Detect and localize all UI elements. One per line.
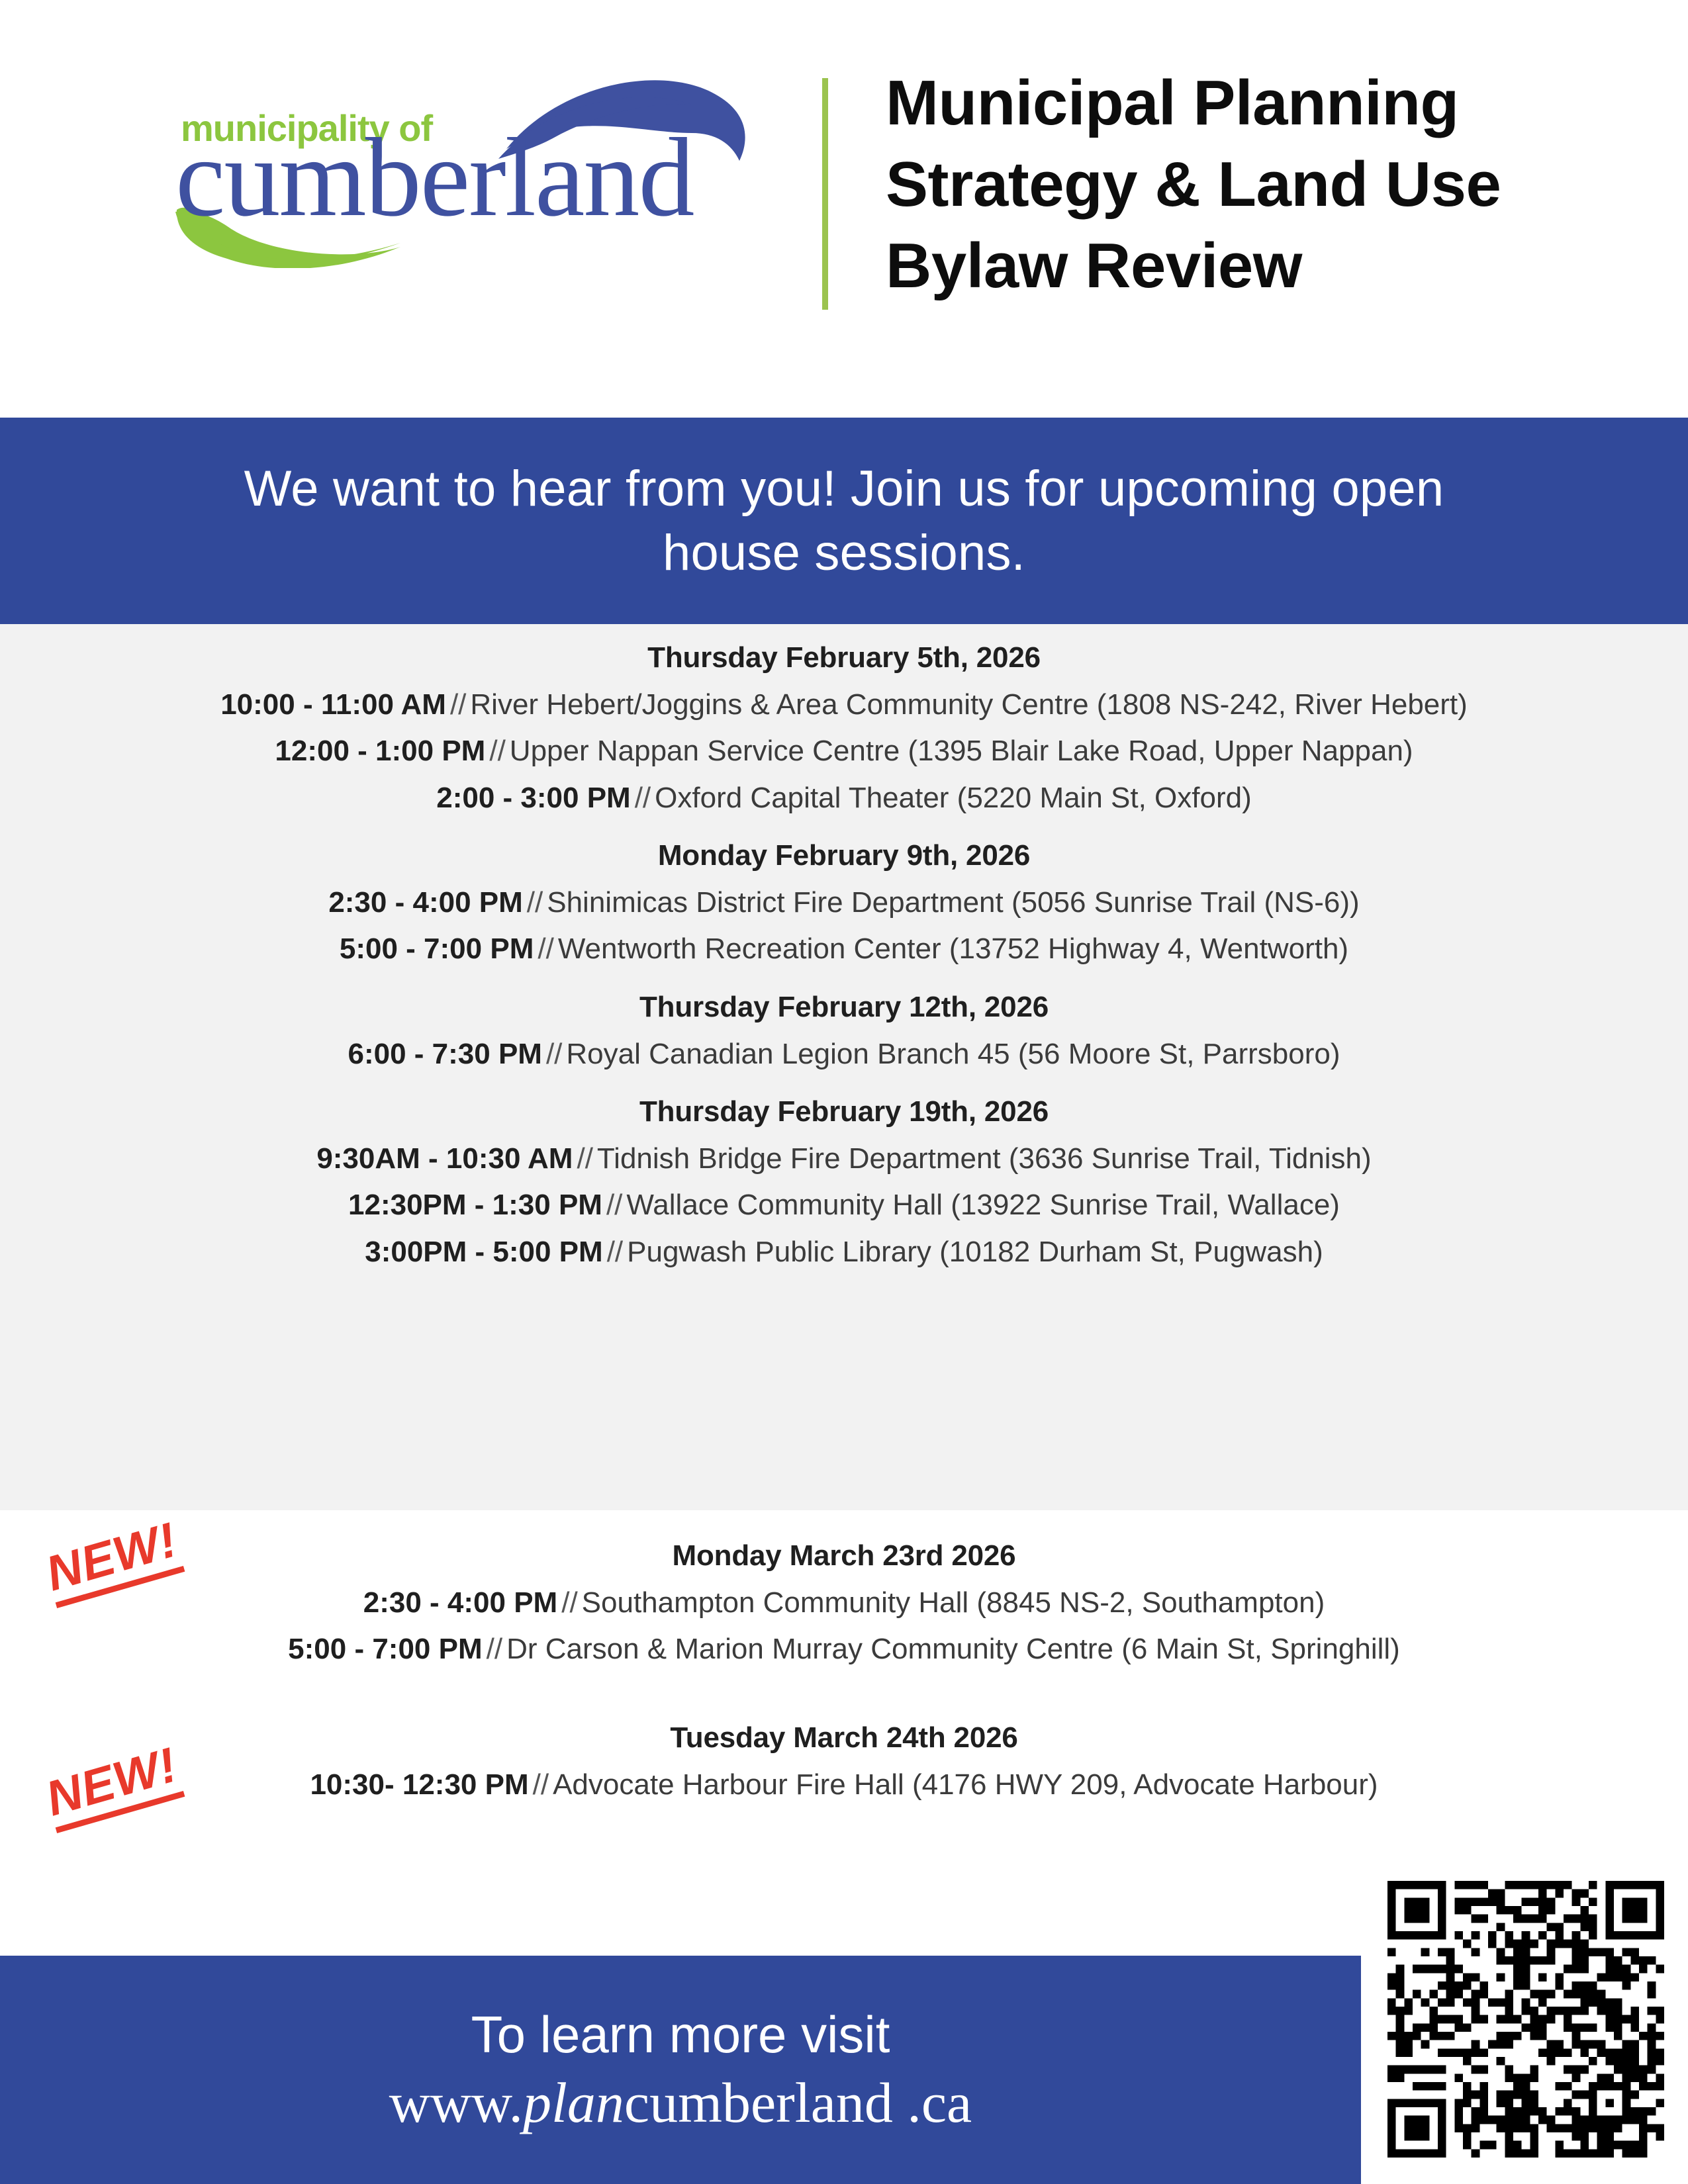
session-row: 2:30 - 4:00 PM//Shinimicas District Fire… bbox=[0, 884, 1688, 921]
session-separator: // bbox=[529, 1768, 553, 1801]
banner-text: We want to hear from you! Join us for up… bbox=[182, 457, 1506, 586]
session-time: 5:00 - 7:00 PM bbox=[340, 933, 534, 965]
session-location: Southampton Community Hall (8845 NS-2, S… bbox=[582, 1586, 1325, 1619]
header: municipality of cumberland Municipal Pla… bbox=[0, 0, 1688, 418]
day-date: Monday February 9th, 2026 bbox=[0, 839, 1688, 872]
qr-code-svg bbox=[1387, 1881, 1664, 2158]
session-separator: // bbox=[602, 1189, 626, 1221]
session-time: 12:30PM - 1:30 PM bbox=[348, 1189, 602, 1221]
session-time: 12:00 - 1:00 PM bbox=[275, 735, 485, 767]
session-location: Wentworth Recreation Center (13752 Highw… bbox=[558, 933, 1348, 965]
session-location: Royal Canadian Legion Branch 45 (56 Moor… bbox=[566, 1038, 1340, 1070]
session-row: 5:00 - 7:00 PM//Dr Carson & Marion Murra… bbox=[0, 1631, 1688, 1668]
session-separator: // bbox=[631, 782, 655, 814]
header-divider bbox=[822, 78, 828, 310]
schedule-day: Thursday February 19th, 20269:30AM - 10:… bbox=[0, 1095, 1688, 1271]
schedule-day: Thursday February 5th, 202610:00 - 11:00… bbox=[0, 641, 1688, 817]
page-title: Municipal Planning Strategy & Land Use B… bbox=[886, 63, 1647, 307]
session-separator: // bbox=[603, 1236, 627, 1268]
session-separator: // bbox=[557, 1586, 581, 1619]
session-location: River Hebert/Joggins & Area Community Ce… bbox=[470, 688, 1467, 721]
url-suffix: cumberland .ca bbox=[624, 2071, 972, 2134]
session-separator: // bbox=[446, 688, 470, 721]
session-location: Dr Carson & Marion Murray Community Cent… bbox=[506, 1633, 1400, 1665]
session-time: 5:00 - 7:00 PM bbox=[288, 1633, 482, 1665]
qr-code[interactable] bbox=[1387, 1881, 1664, 2158]
session-row: 12:30PM - 1:30 PM//Wallace Community Hal… bbox=[0, 1187, 1688, 1224]
day-date: Thursday February 12th, 2026 bbox=[0, 991, 1688, 1024]
session-location: Pugwash Public Library (10182 Durham St,… bbox=[627, 1236, 1323, 1268]
session-row: 9:30AM - 10:30 AM//Tidnish Bridge Fire D… bbox=[0, 1140, 1688, 1177]
session-location: Wallace Community Hall (13922 Sunrise Tr… bbox=[626, 1189, 1340, 1221]
poster-page: municipality of cumberland Municipal Pla… bbox=[0, 0, 1688, 2184]
session-time: 3:00PM - 5:00 PM bbox=[365, 1236, 602, 1268]
schedule-days: Thursday February 5th, 202610:00 - 11:00… bbox=[0, 641, 1688, 1271]
session-row: 6:00 - 7:30 PM//Royal Canadian Legion Br… bbox=[0, 1036, 1688, 1073]
session-location: Shinimicas District Fire Department (505… bbox=[547, 886, 1359, 919]
day-date: Tuesday March 24th 2026 bbox=[0, 1721, 1688, 1754]
session-separator: // bbox=[523, 886, 547, 919]
session-time: 10:30- 12:30 PM bbox=[310, 1768, 528, 1801]
session-location: Advocate Harbour Fire Hall (4176 HWY 209… bbox=[553, 1768, 1378, 1801]
session-row: 2:30 - 4:00 PM//Southampton Community Ha… bbox=[0, 1584, 1688, 1621]
session-time: 6:00 - 7:30 PM bbox=[348, 1038, 541, 1070]
footer-url[interactable]: www.plancumberland .ca bbox=[389, 2071, 972, 2134]
session-separator: // bbox=[483, 1633, 506, 1665]
session-row: 10:30- 12:30 PM//Advocate Harbour Fire H… bbox=[0, 1766, 1688, 1803]
session-row: 12:00 - 1:00 PM//Upper Nappan Service Ce… bbox=[0, 733, 1688, 770]
session-time: 2:00 - 3:00 PM bbox=[436, 782, 630, 814]
schedule-new-days: Monday March 23rd 20262:30 - 4:00 PM//So… bbox=[0, 1510, 1688, 1803]
session-row: 10:00 - 11:00 AM//River Hebert/Joggins &… bbox=[0, 686, 1688, 723]
footer-cta: To learn more visit bbox=[471, 2005, 890, 2065]
day-date: Thursday February 5th, 2026 bbox=[0, 641, 1688, 674]
footer: To learn more visit www.plancumberland .… bbox=[0, 1956, 1361, 2184]
session-separator: // bbox=[534, 933, 557, 965]
schedule-grey-section: Thursday February 5th, 202610:00 - 11:00… bbox=[0, 624, 1688, 1510]
session-separator: // bbox=[542, 1038, 566, 1070]
schedule-day: Monday March 23rd 20262:30 - 4:00 PM//So… bbox=[0, 1510, 1688, 1668]
schedule-day: Thursday February 12th, 20266:00 - 7:30 … bbox=[0, 991, 1688, 1073]
session-time: 10:00 - 11:00 AM bbox=[220, 688, 446, 721]
session-separator: // bbox=[573, 1142, 596, 1175]
url-prefix: www. bbox=[389, 2071, 523, 2134]
schedule-day: Tuesday March 24th 202610:30- 12:30 PM//… bbox=[0, 1691, 1688, 1803]
session-location: Upper Nappan Service Centre (1395 Blair … bbox=[510, 735, 1413, 767]
session-separator: // bbox=[485, 735, 509, 767]
day-date: Thursday February 19th, 2026 bbox=[0, 1095, 1688, 1128]
schedule-day: Monday February 9th, 20262:30 - 4:00 PM/… bbox=[0, 839, 1688, 968]
svg-text:cumberland: cumberland bbox=[175, 115, 693, 240]
session-time: 2:30 - 4:00 PM bbox=[328, 886, 522, 919]
logo-svg: municipality of cumberland bbox=[136, 69, 798, 268]
session-time: 9:30AM - 10:30 AM bbox=[316, 1142, 573, 1175]
session-time: 2:30 - 4:00 PM bbox=[363, 1586, 557, 1619]
day-date: Monday March 23rd 2026 bbox=[0, 1539, 1688, 1572]
session-location: Tidnish Bridge Fire Department (3636 Sun… bbox=[597, 1142, 1372, 1175]
url-plan: plan bbox=[523, 2071, 624, 2134]
session-row: 5:00 - 7:00 PM//Wentworth Recreation Cen… bbox=[0, 931, 1688, 968]
session-row: 3:00PM - 5:00 PM//Pugwash Public Library… bbox=[0, 1234, 1688, 1271]
session-row: 2:00 - 3:00 PM//Oxford Capital Theater (… bbox=[0, 780, 1688, 817]
cumberland-logo: municipality of cumberland bbox=[136, 69, 798, 268]
session-location: Oxford Capital Theater (5220 Main St, Ox… bbox=[655, 782, 1252, 814]
banner: We want to hear from you! Join us for up… bbox=[0, 418, 1688, 624]
